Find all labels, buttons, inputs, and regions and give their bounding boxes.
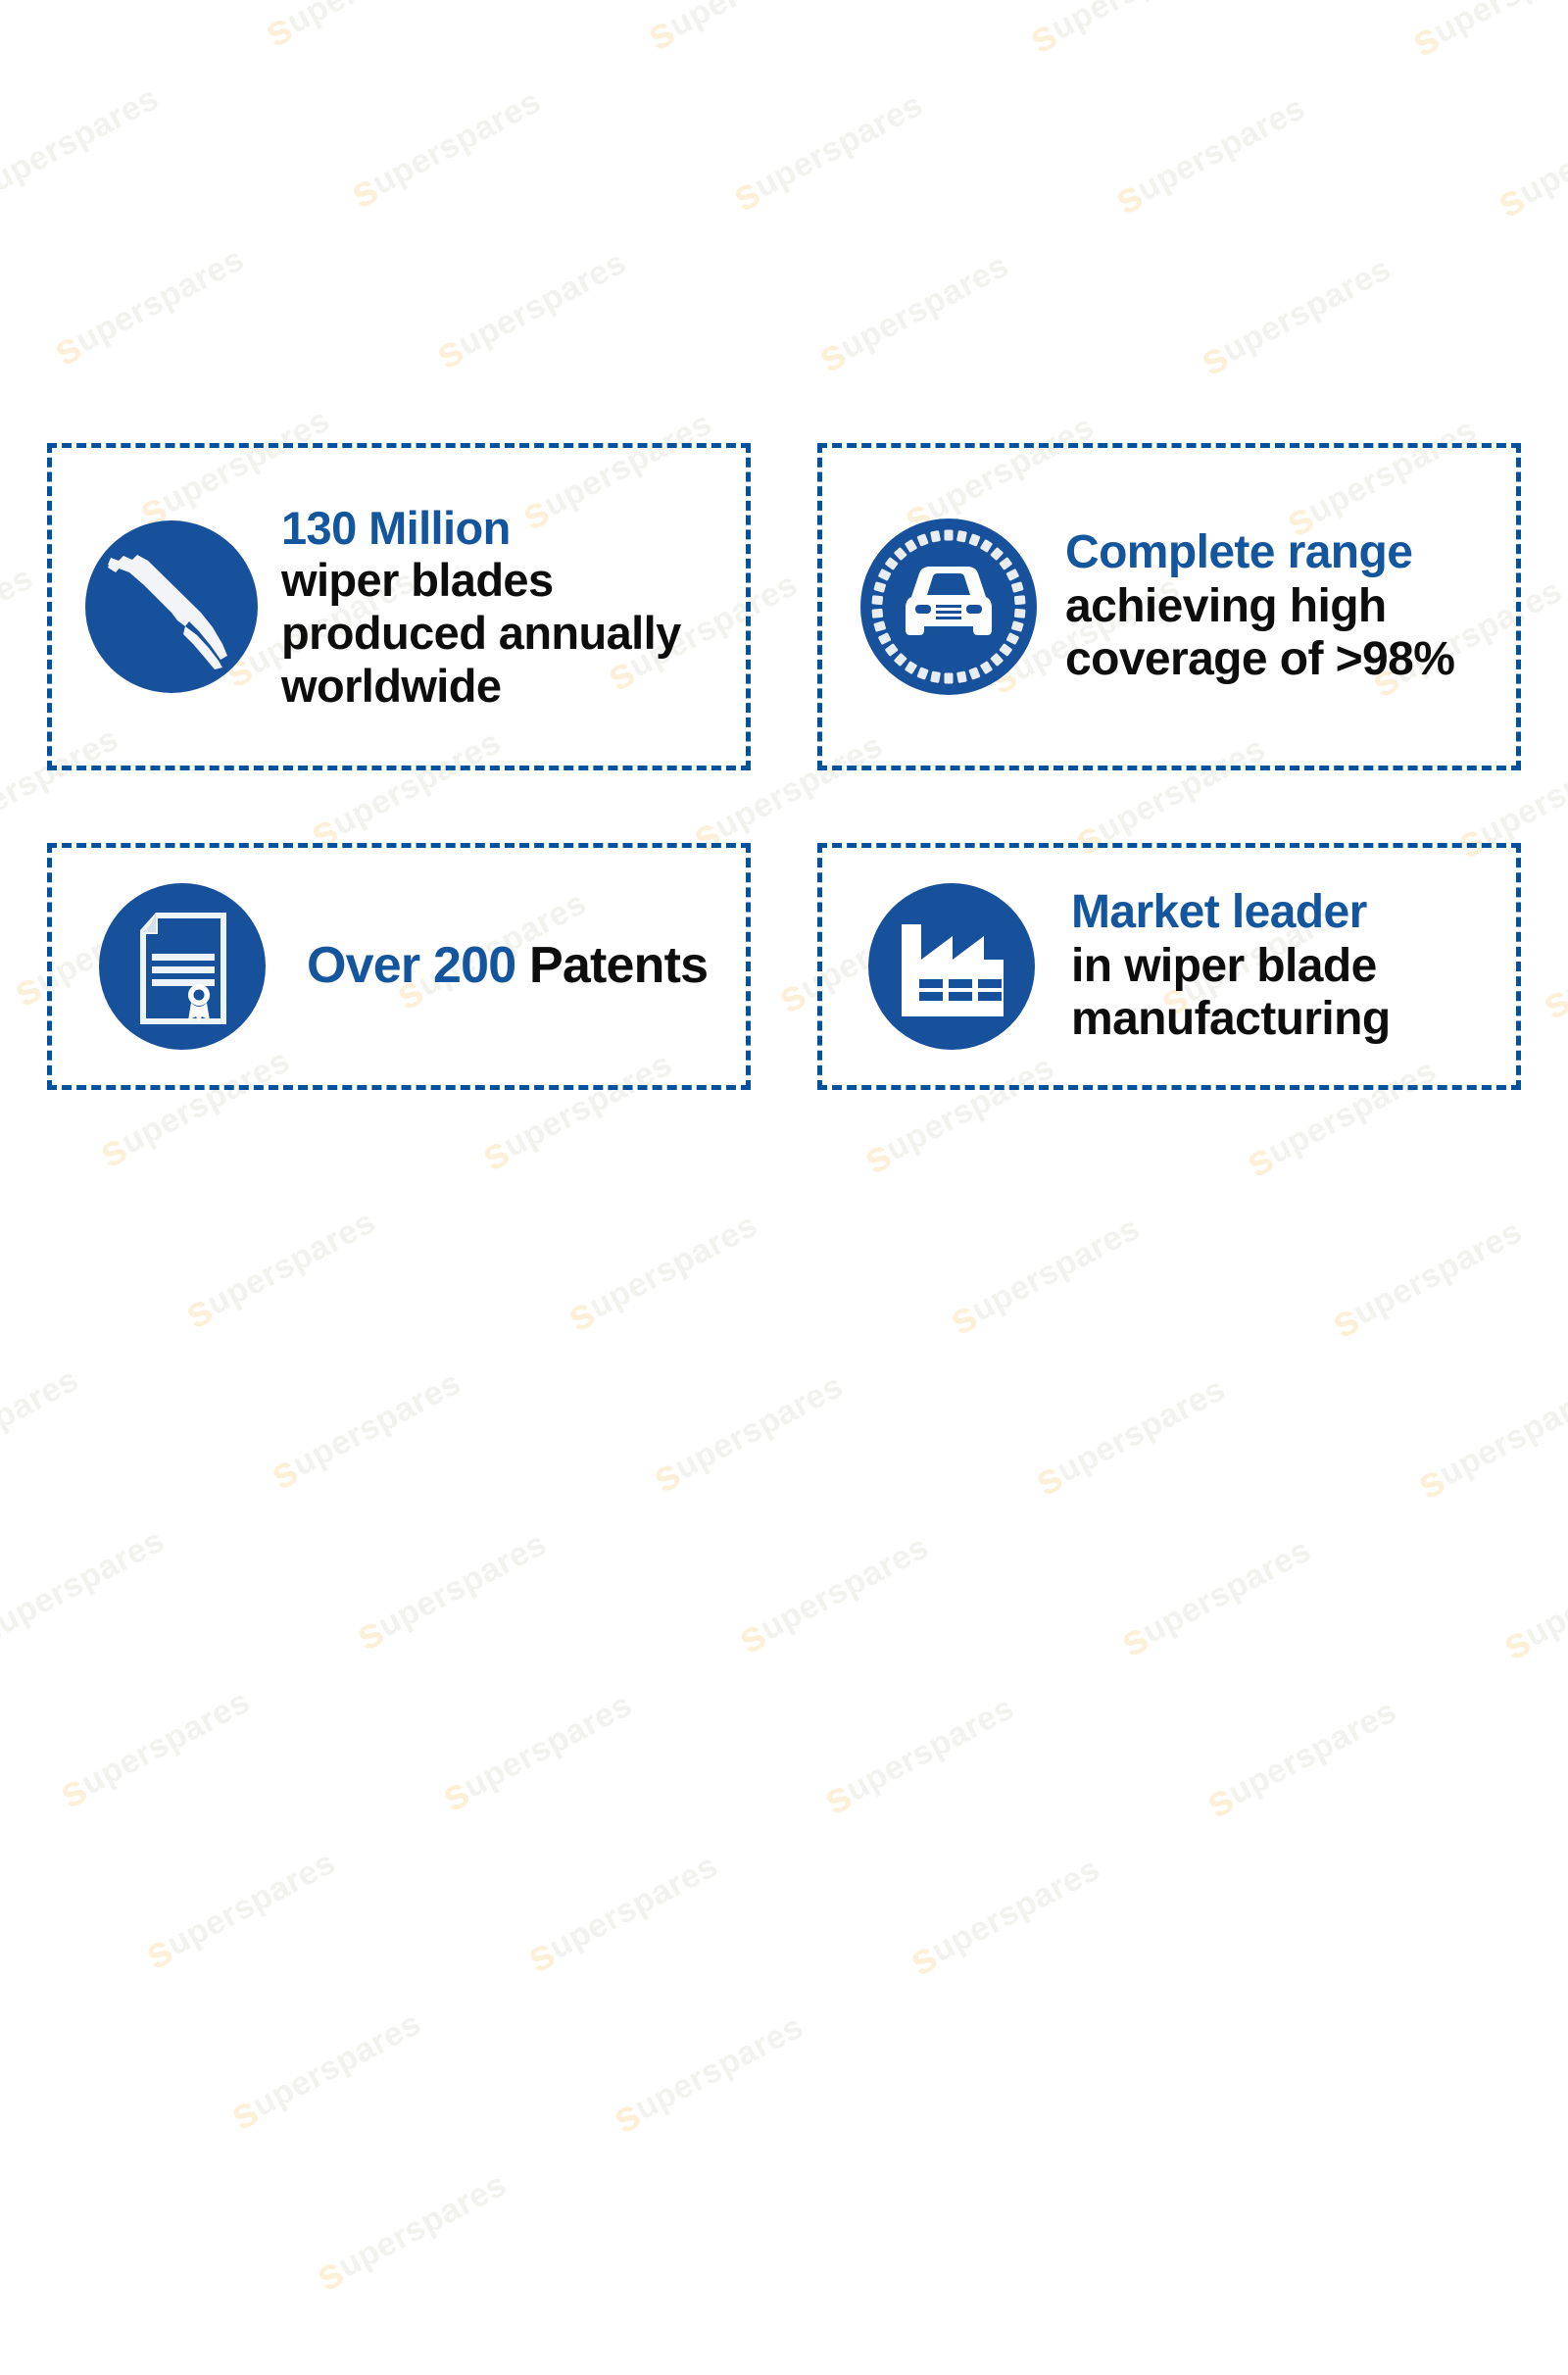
watermark-logo-glyph: s bbox=[342, 164, 386, 218]
watermark-logo-glyph: s bbox=[1192, 331, 1236, 385]
watermark-logo-glyph: s bbox=[605, 2090, 649, 2144]
watermark-text: superspares bbox=[0, 1195, 2, 1336]
fact-line-body-2: coverage of >98% bbox=[1065, 633, 1516, 687]
watermark-logo-glyph: s bbox=[518, 1928, 563, 1982]
watermark-text: superspares bbox=[809, 241, 1017, 382]
watermark-logo-glyph: s bbox=[1403, 13, 1447, 67]
watermark-layer: supersparessupersparessupersparessupersp… bbox=[0, 0, 1568, 2375]
watermark-text: superspares bbox=[222, 2000, 430, 2141]
watermark-logo-glyph: s bbox=[136, 1925, 180, 1979]
fact-panel-market-leader: Market leader in wiper blade manufacturi… bbox=[817, 843, 1521, 1090]
watermark-text: superspares bbox=[1494, 1529, 1568, 1670]
watermark-logo-glyph: s bbox=[639, 6, 683, 60]
icon-container bbox=[79, 873, 285, 1060]
watermark-text: superspares bbox=[645, 1361, 853, 1503]
watermark-text: superspares bbox=[730, 1523, 938, 1664]
watermark-logo-glyph: s bbox=[348, 1607, 392, 1660]
fact-text-block: Over 200 Patents bbox=[285, 937, 746, 995]
watermark-logo-glyph: s bbox=[730, 1609, 774, 1663]
watermark-logo-glyph: s bbox=[473, 1126, 517, 1180]
watermark-logo-glyph: s bbox=[176, 1284, 220, 1338]
watermark-text: superspares bbox=[257, 0, 465, 58]
watermark-text: superspares bbox=[427, 238, 635, 379]
watermark-logo-glyph: s bbox=[222, 2086, 267, 2140]
watermark-text: superspares bbox=[1403, 0, 1568, 68]
watermark-logo-glyph: s bbox=[427, 325, 471, 379]
fact-line-headline: Market leader bbox=[1071, 886, 1516, 940]
fact-line-body-3: worldwide bbox=[281, 660, 746, 713]
watermark-text: superspares bbox=[0, 1516, 173, 1658]
certificate-document-icon bbox=[89, 873, 275, 1060]
watermark-text: superspares bbox=[518, 1842, 726, 1983]
watermark-text: superspares bbox=[342, 77, 550, 219]
icon-container bbox=[70, 511, 273, 703]
watermark-text: superspares bbox=[902, 1845, 1109, 1986]
watermark-text: superspares bbox=[433, 1681, 641, 1822]
watermark-text: superspares bbox=[176, 1198, 384, 1339]
fact-panel-grid: 130 Million wiper blades produced annual… bbox=[47, 443, 1521, 1090]
watermark-text: superspares bbox=[639, 0, 847, 61]
fact-panel-patents: Over 200 Patents bbox=[47, 843, 751, 1090]
watermark-text: superspares bbox=[1021, 0, 1229, 64]
watermark-logo-glyph: s bbox=[1494, 1616, 1539, 1670]
watermark-text: superspares bbox=[136, 1839, 344, 1980]
watermark-text: superspares bbox=[605, 2003, 812, 2144]
fact-line-body-1: achieving high bbox=[1065, 580, 1516, 634]
watermark-text: superspares bbox=[724, 80, 932, 222]
watermark-text: superspares bbox=[0, 554, 42, 695]
watermark-logo-glyph: s bbox=[91, 1123, 135, 1177]
watermark-text: superspares bbox=[1198, 1687, 1405, 1828]
fact-line-body-2: produced annually bbox=[281, 607, 746, 660]
watermark-logo-glyph: s bbox=[1027, 1452, 1071, 1506]
watermark-text: superspares bbox=[559, 1201, 766, 1342]
watermark-text: superspares bbox=[51, 1677, 259, 1818]
watermark-logo-glyph: s bbox=[45, 322, 89, 375]
watermark-text: superspares bbox=[1489, 87, 1568, 228]
fact-line-headline: Over 200 Patents bbox=[307, 937, 746, 995]
fact-line-blue-segment: Over 200 bbox=[307, 937, 515, 994]
watermark-logo-glyph: s bbox=[1409, 1455, 1453, 1509]
watermark-logo-glyph: s bbox=[257, 3, 301, 57]
watermark-logo-glyph: s bbox=[645, 1449, 689, 1503]
watermark-text: superspares bbox=[1409, 1368, 1568, 1509]
watermark-logo-glyph: s bbox=[856, 1130, 900, 1184]
watermark-logo-glyph: s bbox=[1021, 10, 1065, 64]
watermark-logo-glyph: s bbox=[0, 1604, 10, 1658]
wiper-blade-icon bbox=[75, 511, 268, 703]
watermark-logo-glyph: s bbox=[0, 161, 4, 215]
watermark-text: superspares bbox=[1323, 1208, 1531, 1349]
watermark-logo-glyph: s bbox=[902, 1932, 946, 1986]
car-in-dashed-circle-icon bbox=[851, 509, 1047, 705]
watermark-text: superspares bbox=[262, 1359, 469, 1500]
fact-line-headline: 130 Million bbox=[281, 502, 746, 555]
watermark-text: superspares bbox=[348, 1519, 556, 1660]
watermark-text: superspares bbox=[1112, 1526, 1320, 1667]
watermark-text: superspares bbox=[1106, 83, 1314, 224]
watermark-logo-glyph: s bbox=[724, 168, 768, 222]
fact-line-body-1: wiper blades bbox=[281, 554, 746, 607]
watermark-logo-glyph: s bbox=[51, 1764, 95, 1818]
watermark-logo-glyph: s bbox=[809, 328, 854, 382]
watermark-text: superspares bbox=[308, 2160, 515, 2301]
watermark-logo-glyph: s bbox=[941, 1291, 985, 1345]
watermark-logo-glyph: s bbox=[6, 963, 50, 1016]
factory-icon bbox=[858, 873, 1045, 1060]
watermark-logo-glyph: s bbox=[433, 1767, 477, 1821]
watermark-text: superspares bbox=[1535, 889, 1568, 1030]
watermark-logo-glyph: s bbox=[1535, 975, 1568, 1029]
watermark-text: superspares bbox=[0, 74, 168, 216]
watermark-logo-glyph: s bbox=[1238, 1133, 1282, 1187]
fact-line-body-2: manufacturing bbox=[1071, 993, 1516, 1047]
fact-line-body-1: in wiper blade bbox=[1071, 940, 1516, 994]
icon-container bbox=[850, 873, 1053, 1060]
watermark-logo-glyph: s bbox=[1489, 173, 1533, 227]
fact-text-block: Market leader in wiper blade manufacturi… bbox=[1053, 886, 1516, 1047]
watermark-text: superspares bbox=[1027, 1365, 1235, 1507]
watermark-logo-glyph: s bbox=[308, 2247, 352, 2301]
watermark-logo-glyph: s bbox=[815, 1770, 859, 1824]
fact-panel-complete-range-coverage: Complete range achieving high coverage o… bbox=[817, 443, 1521, 770]
watermark-logo-glyph: s bbox=[559, 1288, 603, 1342]
fact-line-black-segment: Patents bbox=[515, 937, 708, 994]
fact-panel-wiper-blades-produced: 130 Million wiper blades produced annual… bbox=[47, 443, 751, 770]
icon-container bbox=[844, 509, 1053, 705]
fact-line-headline: Complete range bbox=[1065, 526, 1516, 580]
watermark-text: superspares bbox=[941, 1204, 1149, 1345]
watermark-logo-glyph: s bbox=[262, 1446, 306, 1500]
watermark-text: superspares bbox=[0, 1356, 87, 1497]
watermark-logo-glyph: s bbox=[1323, 1294, 1367, 1348]
watermark-logo-glyph: s bbox=[1112, 1612, 1156, 1666]
watermark-text: superspares bbox=[0, 0, 81, 55]
watermark-logo-glyph: s bbox=[1106, 171, 1151, 224]
watermark-logo-glyph: s bbox=[1198, 1774, 1242, 1828]
watermark-text: superspares bbox=[1192, 245, 1399, 386]
fact-text-block: 130 Million wiper blades produced annual… bbox=[273, 502, 746, 712]
watermark-text: superspares bbox=[45, 235, 253, 376]
watermark-text: superspares bbox=[815, 1684, 1023, 1825]
fact-text-block: Complete range achieving high coverage o… bbox=[1053, 526, 1516, 687]
